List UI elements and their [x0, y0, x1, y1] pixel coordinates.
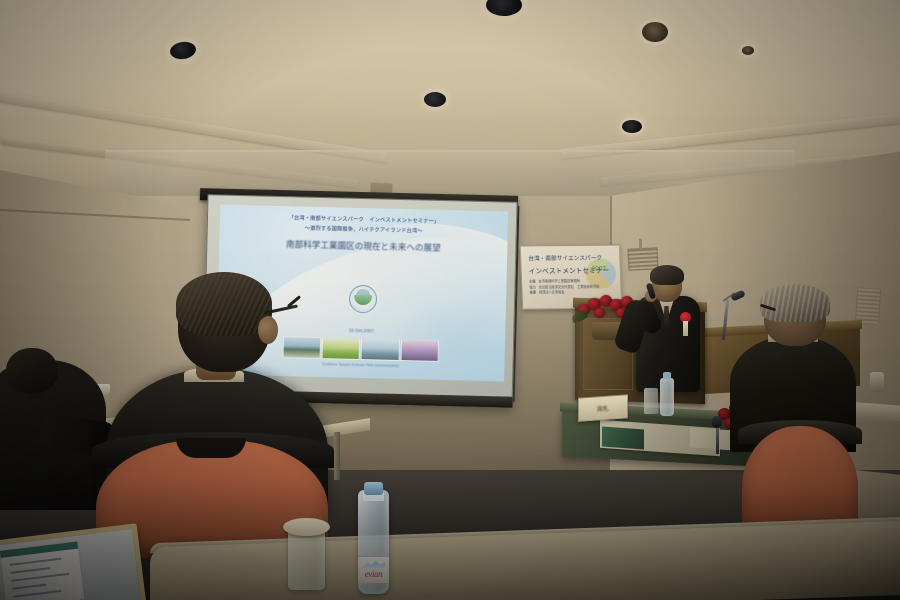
- spotlight-icon: [642, 22, 668, 42]
- slide-photo-thumb: [283, 336, 322, 359]
- evian-brand-text: evian: [358, 569, 389, 579]
- speaker-hair: [650, 265, 684, 285]
- glass-lid-coaster: [283, 518, 330, 536]
- rose-icon: [594, 308, 605, 318]
- downlight-icon: [622, 120, 642, 133]
- banner-detail-value: 財団法人交流協会: [539, 290, 565, 294]
- banner-line1: 台湾・南部サイエンスパーク: [528, 254, 614, 263]
- banner-detail-label: 後援: [529, 291, 536, 295]
- evian-label: evian: [358, 556, 389, 583]
- water-bottle: [660, 378, 674, 416]
- downlight-icon: [169, 40, 197, 60]
- attendee-hair: [760, 284, 830, 322]
- name-card: 席札: [578, 394, 628, 421]
- banner-detail-value: 台北駐日経済文化代表処 工業技術研究院: [539, 284, 600, 289]
- laptop-document-window: [0, 542, 84, 600]
- seminar-room-photo: 「台湾・南部サイエンスパーク インベストメントセミナー」 〜激烈する国際競争、ハ…: [0, 0, 900, 600]
- banner-detail-label: 主催: [529, 279, 536, 283]
- laptop-text-line: [10, 567, 50, 574]
- slide-photo-strip: [283, 336, 439, 362]
- laptop-text-line: [13, 590, 61, 598]
- banner-detail-value: 台湾南部科学工業園区管理局: [538, 279, 580, 283]
- laptop-text-line: [9, 558, 61, 566]
- bottle-cap: [663, 372, 671, 379]
- booklet: [602, 427, 644, 450]
- downlight-icon: [424, 92, 446, 107]
- table-leg: [334, 432, 340, 480]
- attendee-ear: [258, 316, 278, 344]
- bottle-cap: [364, 482, 383, 495]
- name-card-label: 席札: [579, 402, 627, 414]
- attendee-head: [6, 348, 58, 394]
- laptop-text-line: [12, 584, 46, 590]
- slide-photo-thumb: [400, 339, 439, 362]
- spotlight-icon: [742, 46, 754, 55]
- slide-photo-thumb: [361, 338, 400, 361]
- downlight-icon: [486, 0, 522, 16]
- red-ribbon-rosette-icon: [680, 312, 691, 323]
- drinking-glass: [644, 388, 658, 414]
- slide-photo-thumb: [322, 337, 361, 360]
- laptop-window-titlebar: [0, 542, 78, 558]
- speaker-bracket: [639, 238, 642, 249]
- banner-detail-label: 協力: [529, 285, 536, 289]
- covered-drinking-glass: [288, 528, 325, 590]
- small-vase: [870, 372, 884, 392]
- chair-handle-cutout: [176, 438, 246, 458]
- banner-year: 2007: [592, 266, 607, 273]
- laptop-text-line: [11, 573, 69, 582]
- mountain-logo-icon: [362, 560, 385, 568]
- science-park-emblem-icon: [349, 284, 378, 313]
